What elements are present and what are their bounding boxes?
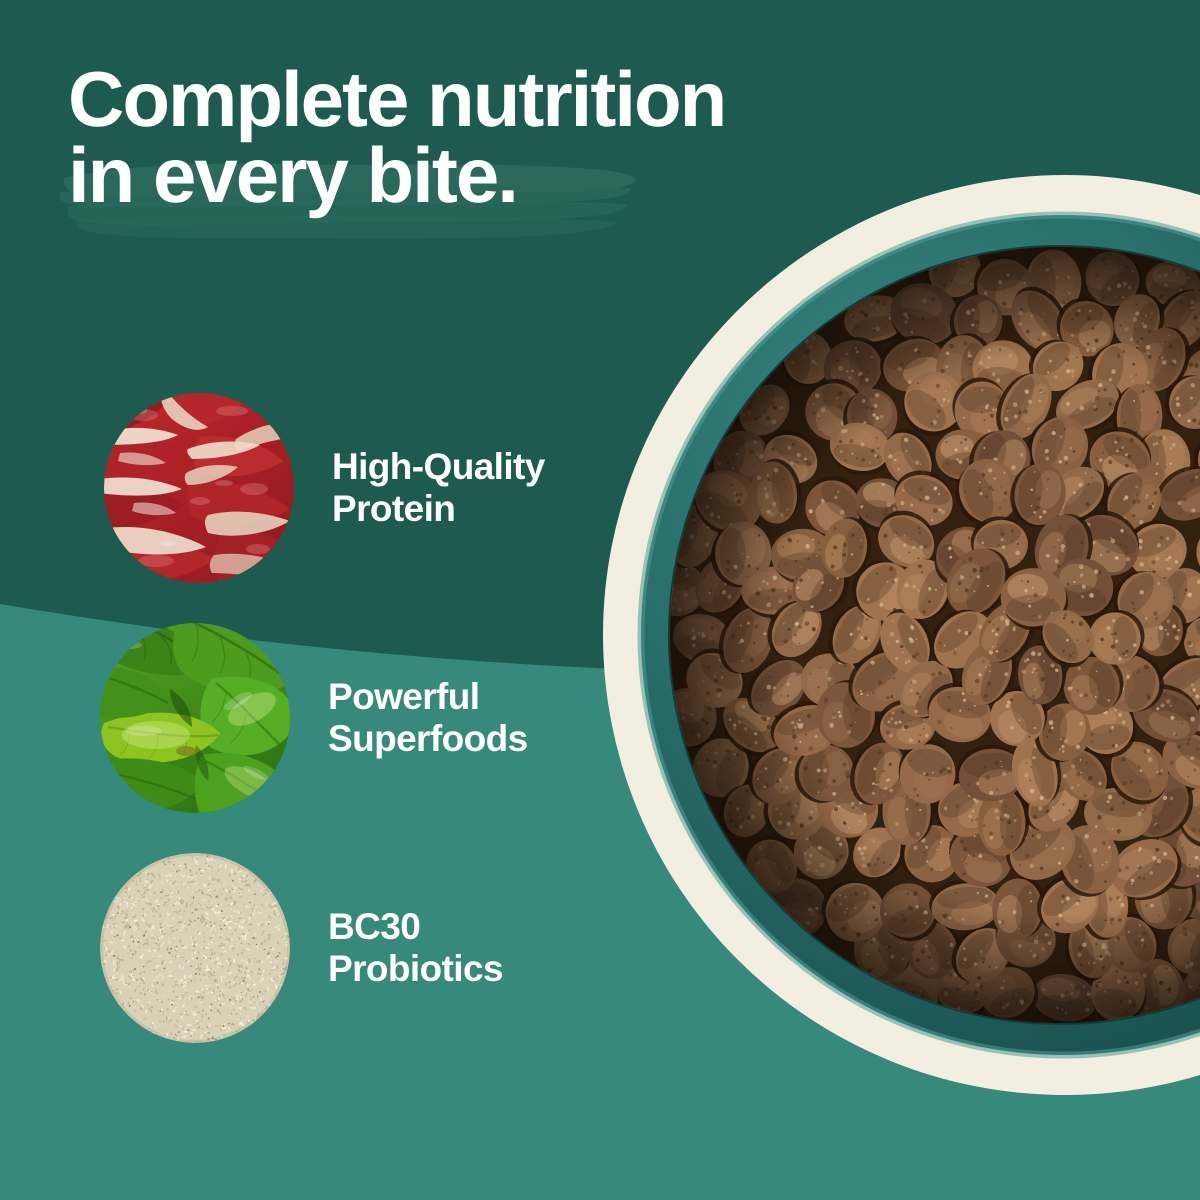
promo-banner: Complete nutrition in every bite. (0, 0, 1200, 1200)
probiotic-granules-icon (100, 853, 290, 1043)
feature-label-protein: High-Quality Protein (332, 446, 545, 530)
spinach-leaves-icon (100, 623, 290, 813)
feature-item-superfoods: Powerful Superfoods (100, 623, 528, 813)
raw-meat-icon (104, 393, 294, 583)
feature-label-superfoods: Powerful Superfoods (328, 676, 528, 760)
dog-food-bowl-image (560, 130, 1200, 1140)
feature-item-protein: High-Quality Protein (104, 393, 545, 583)
feature-label-probiotics: BC30 Probiotics (328, 906, 503, 990)
feature-item-probiotics: BC30 Probiotics (100, 853, 503, 1043)
